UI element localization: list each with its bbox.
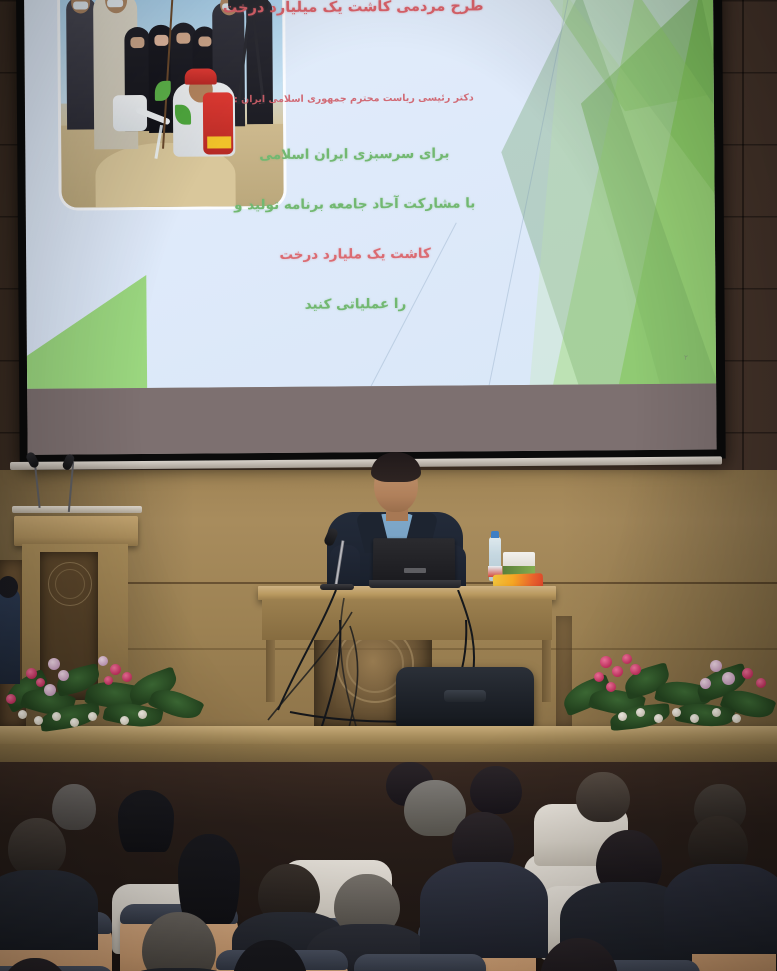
laptop-brand-logo [404, 568, 426, 573]
laptop-keyboard-base[interactable] [369, 580, 461, 588]
audience-head-m1 [8, 818, 66, 876]
seat-front-3-edge [354, 954, 486, 971]
floral-arrangement-left [0, 640, 210, 740]
slide-line-4: را عملیاتی کنید [145, 295, 565, 314]
slide-line-2: با مشارکت آحاد جامعه برنامه تولید و [145, 195, 565, 214]
water-bottle-cap [491, 531, 499, 538]
audience-body-m5 [420, 862, 548, 958]
slide-line-1: برای سرسبزی ایران اسلامی [144, 145, 564, 164]
podium-top [14, 516, 138, 546]
wall-seam [742, 0, 744, 470]
screen-unused-area [27, 384, 716, 455]
slide-title: طرح مردمی کاشت یک میلیارد درخت [143, 0, 563, 17]
auditorium-scene: طرح مردمی کاشت یک میلیارد درخت دکتر رئیس… [0, 0, 777, 971]
audience-body-m7 [664, 864, 777, 954]
laptop-display[interactable] [373, 538, 456, 582]
slide-line-3: کاشت یک ملیارد درخت [145, 245, 565, 264]
audience-head-b5 [470, 766, 522, 814]
floral-arrangement-right [560, 638, 777, 740]
person-far-left-body [0, 588, 20, 684]
podium-shelf [12, 506, 142, 513]
audience-head-b6 [576, 772, 630, 822]
audience-head-b1 [52, 784, 96, 830]
audience-head-m2 [178, 834, 240, 924]
slide-subtitle: دکتر رئیسی ریاست محترم جمهوری اسلامی ایر… [144, 92, 564, 106]
audience-area [0, 762, 777, 971]
slide-text-block: طرح مردمی کاشت یک میلیارد درخت دکتر رئیس… [143, 0, 566, 348]
audience-head-b2 [118, 790, 174, 852]
stage-monitor-handle [444, 690, 486, 702]
screen-surface: طرح مردمی کاشت یک میلیارد درخت دکتر رئیس… [24, 0, 717, 455]
audience-body-m1 [0, 870, 98, 950]
slide-corner-mark: ٢ [684, 354, 688, 362]
presentation-slide: طرح مردمی کاشت یک میلیارد درخت دکتر رئیس… [24, 0, 716, 389]
projection-screen: طرح مردمی کاشت یک میلیارد درخت دکتر رئیس… [16, 0, 726, 464]
